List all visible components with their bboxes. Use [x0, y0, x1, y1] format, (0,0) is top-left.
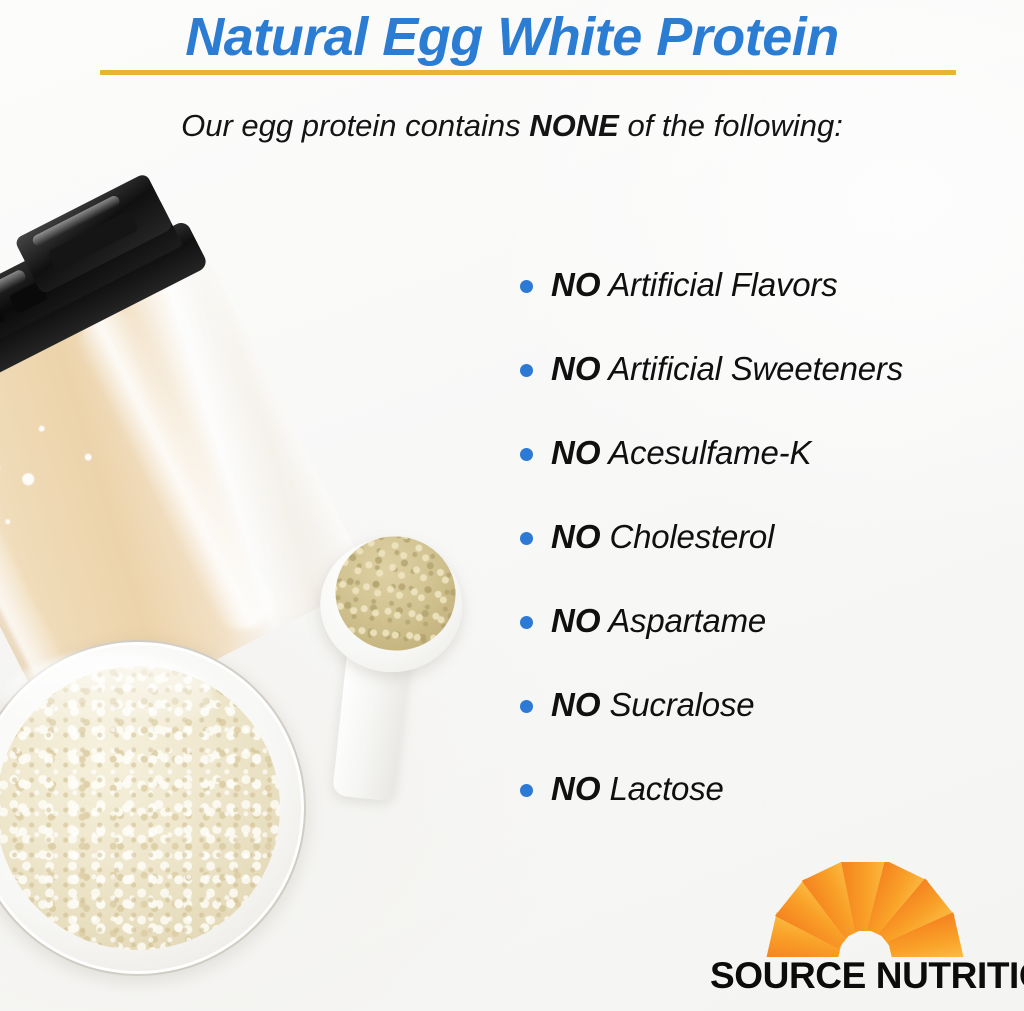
- bullet-dot-icon: [520, 448, 533, 461]
- list-item: NO Aspartame: [520, 579, 1024, 663]
- list-item: NO Lactose: [520, 747, 1024, 831]
- list-item-text: Cholesterol: [601, 518, 775, 555]
- list-item-label: NO Artificial Flavors: [551, 266, 838, 304]
- bullet-dot-icon: [520, 784, 533, 797]
- product-poster: Natural Egg White Protein Our egg protei…: [0, 0, 1024, 1011]
- list-item: NO Artificial Sweeteners: [520, 327, 1024, 411]
- list-item-text: Artificial Sweeteners: [601, 350, 904, 387]
- subtitle-text-after: of the following:: [619, 108, 843, 143]
- list-item-label: NO Aspartame: [551, 602, 766, 640]
- brand-logo: SOURCE NUTRITION: [700, 862, 1024, 1007]
- list-item-prefix: NO: [551, 266, 601, 303]
- exclusion-list: NO Artificial Flavors NO Artificial Swee…: [520, 243, 1024, 831]
- list-item: NO Cholesterol: [520, 495, 1024, 579]
- list-item-label: NO Sucralose: [551, 686, 754, 724]
- list-item-label: NO Lactose: [551, 770, 724, 808]
- bullet-dot-icon: [520, 616, 533, 629]
- list-item-text: Acesulfame-K: [601, 434, 812, 471]
- list-item-label: NO Artificial Sweeteners: [551, 350, 903, 388]
- list-item-prefix: NO: [551, 686, 601, 723]
- list-item: NO Sucralose: [520, 663, 1024, 747]
- list-item: NO Acesulfame-K: [520, 411, 1024, 495]
- bullet-dot-icon: [520, 280, 533, 293]
- list-item-label: NO Cholesterol: [551, 518, 774, 556]
- list-item-prefix: NO: [551, 350, 601, 387]
- list-item-prefix: NO: [551, 602, 601, 639]
- subtitle-text-before: Our egg protein contains: [181, 108, 529, 143]
- list-item-text: Sucralose: [601, 686, 755, 723]
- headline-block: Natural Egg White Protein: [0, 4, 1024, 70]
- bullet-dot-icon: [520, 532, 533, 545]
- subtitle: Our egg protein contains NONE of the fol…: [0, 104, 1024, 148]
- list-item: NO Artificial Flavors: [520, 243, 1024, 327]
- page-title: Natural Egg White Protein: [0, 4, 1024, 70]
- list-item-prefix: NO: [551, 434, 601, 471]
- title-underline-rule: [100, 70, 956, 75]
- bullet-dot-icon: [520, 364, 533, 377]
- subtitle-emphasis: NONE: [529, 108, 619, 143]
- list-item-prefix: NO: [551, 518, 601, 555]
- brand-name: SOURCE NUTRITION: [710, 954, 1024, 998]
- bullet-dot-icon: [520, 700, 533, 713]
- list-item-text: Artificial Flavors: [601, 266, 838, 303]
- list-item-text: Lactose: [601, 770, 724, 807]
- list-item-prefix: NO: [551, 770, 601, 807]
- list-item-label: NO Acesulfame-K: [551, 434, 811, 472]
- sunburst-icon: [700, 862, 1024, 957]
- list-item-text: Aspartame: [601, 602, 767, 639]
